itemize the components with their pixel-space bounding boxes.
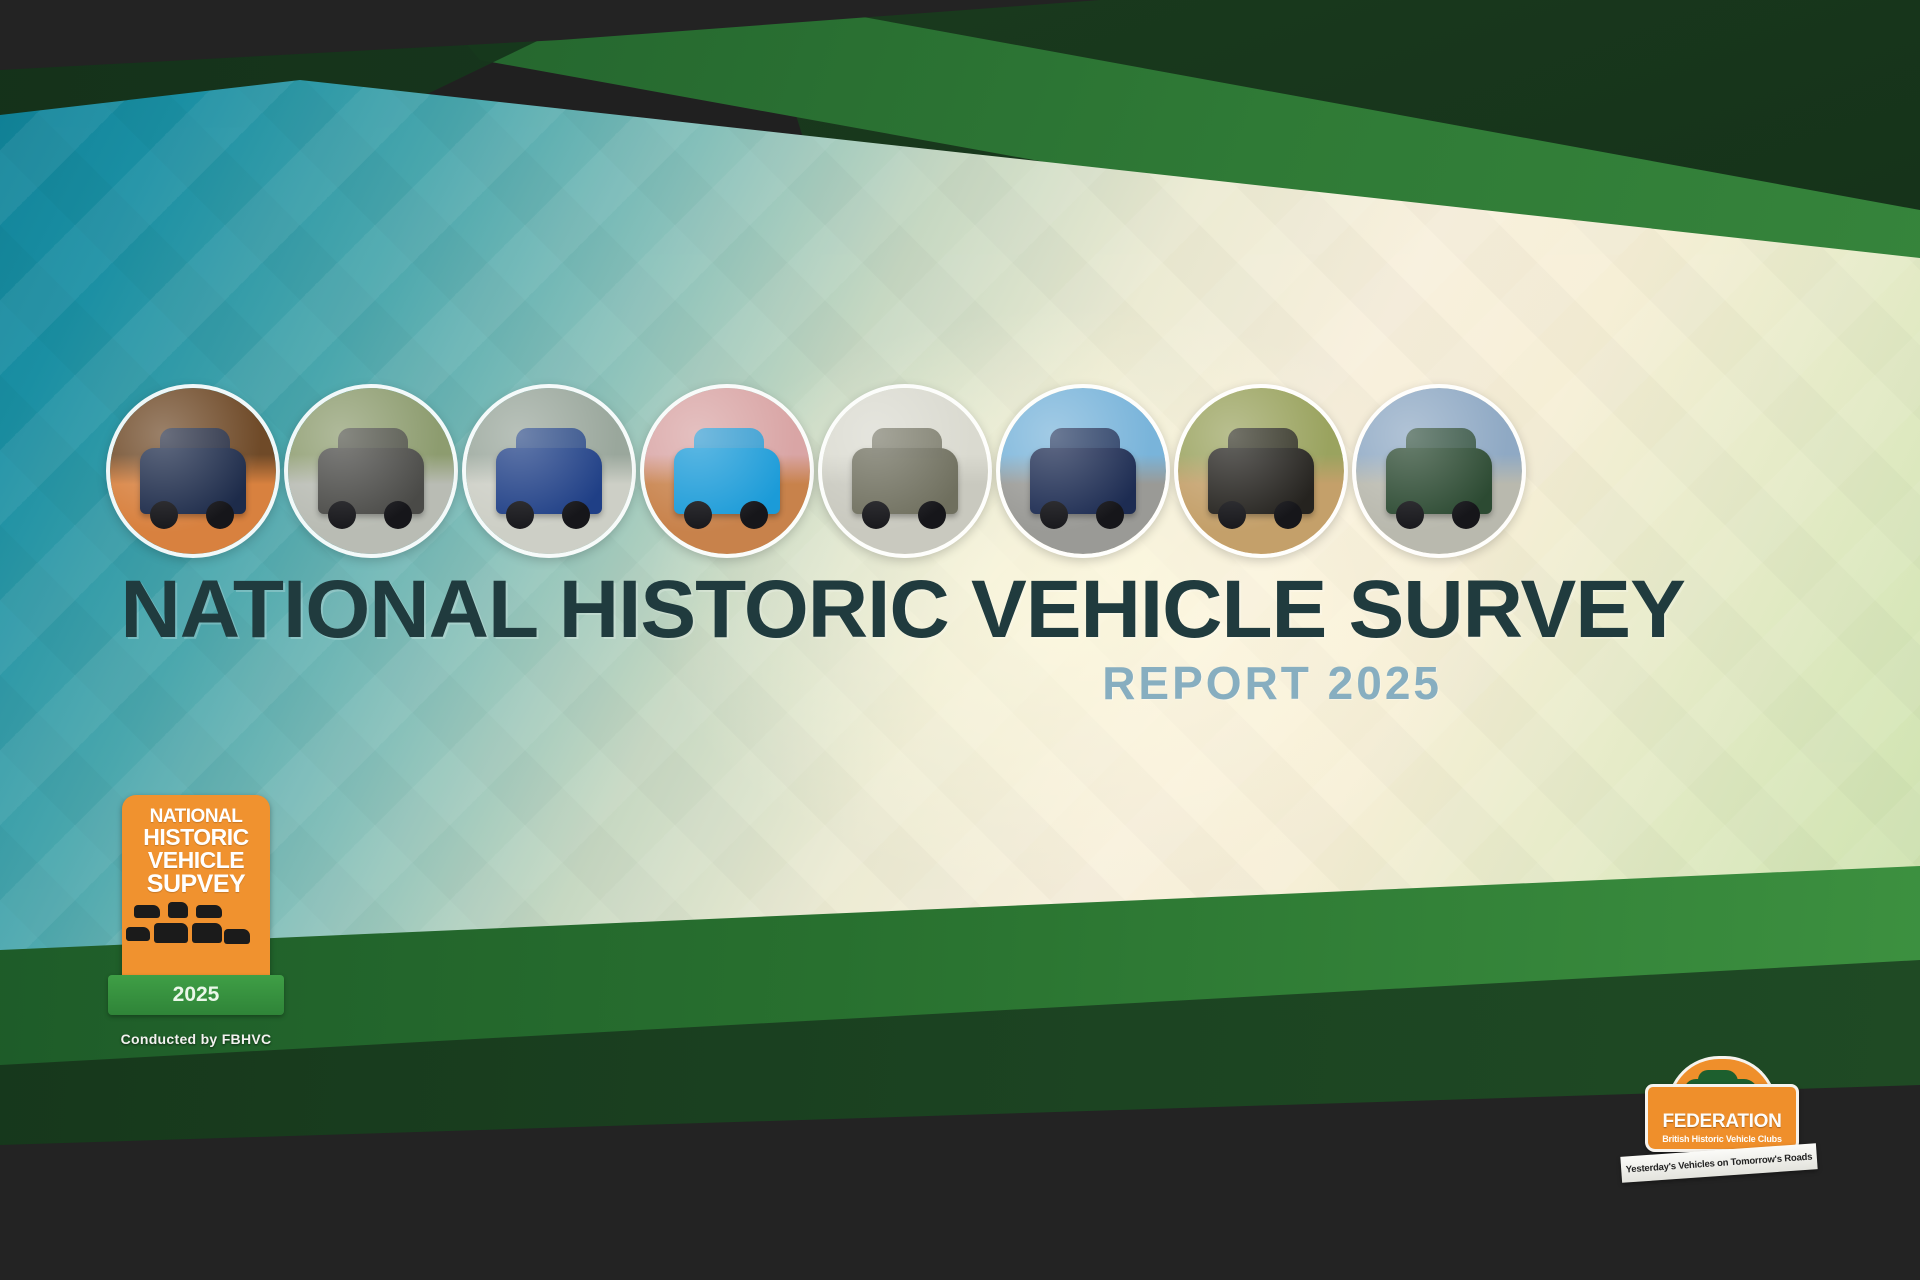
page-title: NATIONAL HISTORIC VEHICLE SURVEY bbox=[0, 570, 1920, 650]
survey-badge: NATIONAL HISTORIC VEHICLE SUPVEY 2025 Co… bbox=[113, 795, 279, 1047]
fbhvc-shield: FEDERATION British Historic Vehicle Club… bbox=[1645, 1084, 1799, 1152]
badge-vehicle-icon-1 bbox=[134, 905, 160, 918]
badge-vehicle-icon-7 bbox=[224, 929, 250, 944]
survey-badge-line-3: VEHICLE bbox=[128, 849, 264, 872]
survey-badge-line-2: HISTORIC bbox=[128, 826, 264, 849]
badge-vehicle-icon-3 bbox=[196, 905, 222, 918]
fbhvc-name: FEDERATION bbox=[1648, 1111, 1796, 1133]
survey-badge-year: 2025 bbox=[173, 983, 220, 1007]
page-subtitle: REPORT 2025 bbox=[0, 656, 1920, 710]
circle-camper-van bbox=[640, 384, 814, 558]
circle-vintage-car bbox=[106, 384, 280, 558]
circle-vintage-bus bbox=[996, 384, 1170, 558]
circle-fire-engine-image bbox=[466, 388, 632, 554]
circle-tractor-image bbox=[1178, 388, 1344, 554]
survey-badge-vehicle-icons bbox=[128, 901, 264, 963]
report-cover-page: NATIONAL HISTORIC VEHICLE SURVEY REPORT … bbox=[0, 0, 1920, 1280]
fbhvc-tagline: Yesterday's Vehicles on Tomorrow's Roads bbox=[1625, 1151, 1812, 1175]
badge-vehicle-icon-4 bbox=[126, 927, 150, 941]
vehicle-circle-row bbox=[106, 384, 1506, 554]
title-block: NATIONAL HISTORIC VEHICLE SURVEY REPORT … bbox=[0, 570, 1920, 710]
circle-camper-van-image bbox=[644, 388, 810, 554]
circle-military-truck-image bbox=[822, 388, 988, 554]
circle-tractor bbox=[1174, 384, 1348, 558]
survey-badge-line-4: SUPVEY bbox=[128, 872, 264, 897]
circle-motorcycle bbox=[284, 384, 458, 558]
fbhvc-subtitle: British Historic Vehicle Clubs bbox=[1648, 1134, 1796, 1144]
badge-vehicle-icon-2 bbox=[168, 902, 188, 918]
survey-badge-ribbon: 2025 bbox=[108, 975, 284, 1015]
circle-steam-engine-image bbox=[1356, 388, 1522, 554]
survey-badge-footer: Conducted by FBHVC bbox=[113, 1031, 279, 1047]
circle-military-truck bbox=[818, 384, 992, 558]
badge-vehicle-icon-5 bbox=[154, 923, 188, 943]
circle-vintage-car-image bbox=[110, 388, 276, 554]
survey-badge-card: NATIONAL HISTORIC VEHICLE SUPVEY 2025 bbox=[122, 795, 270, 997]
circle-steam-engine bbox=[1352, 384, 1526, 558]
circle-motorcycle-image bbox=[288, 388, 454, 554]
badge-vehicle-icon-6 bbox=[192, 923, 222, 943]
circle-vintage-bus-image bbox=[1000, 388, 1166, 554]
circle-fire-engine bbox=[462, 384, 636, 558]
fbhvc-logo: FEDERATION British Historic Vehicle Club… bbox=[1627, 1058, 1809, 1188]
